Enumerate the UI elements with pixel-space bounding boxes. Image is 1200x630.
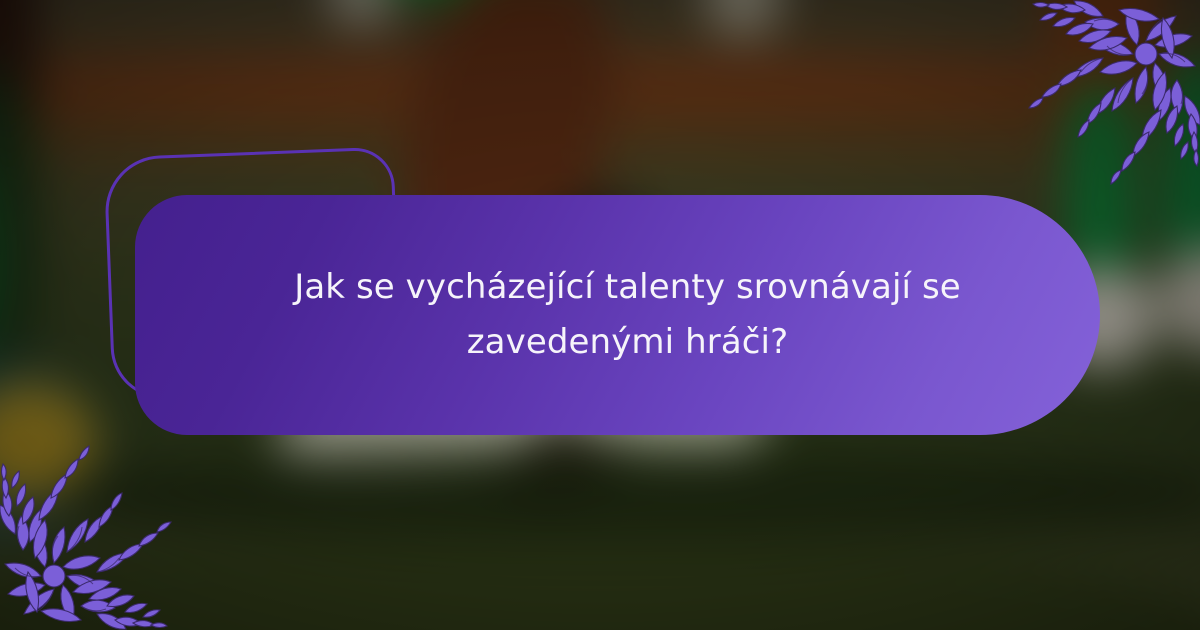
question-card: Jak se vycházející talenty srovnávají se… (135, 195, 1100, 435)
social-quote-card-image: Jak se vycházející talenty srovnávají se… (0, 0, 1200, 630)
question-text: Jak se vycházející talenty srovnávají se… (278, 260, 978, 370)
